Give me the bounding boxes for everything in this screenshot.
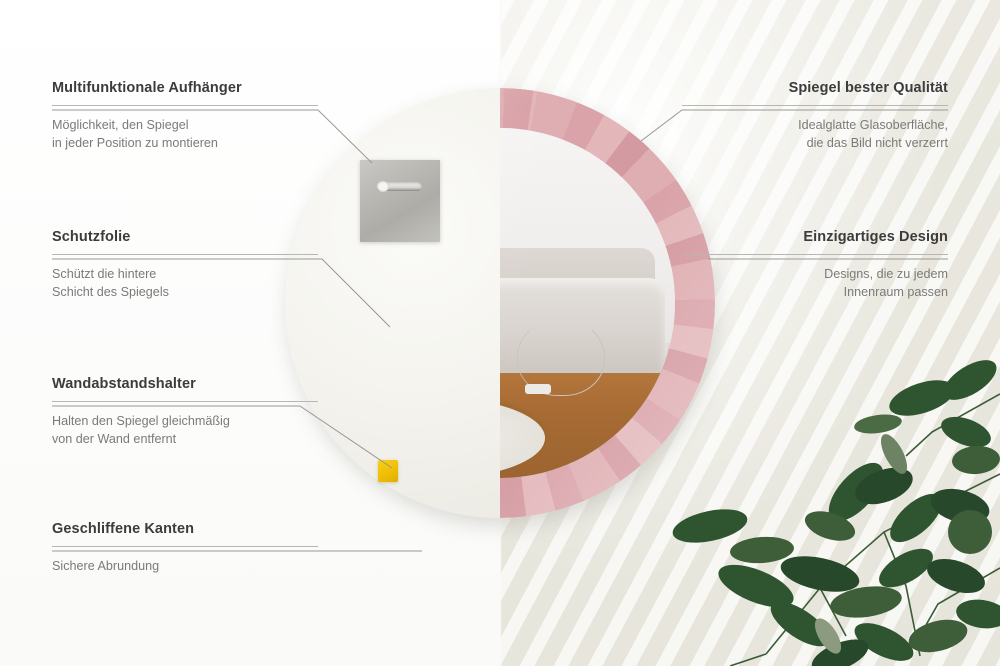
callout-title: Schutzfolie	[52, 229, 318, 245]
callout-description: Schützt die hintere Schicht des Spiegels	[52, 265, 318, 301]
mirror-back-surface	[285, 88, 500, 518]
mirror-product	[285, 88, 717, 580]
callout-description: Möglichkeit, den Spiegel in jeder Positi…	[52, 116, 318, 152]
callout-title: Multifunktionale Aufhänger	[52, 80, 318, 96]
callout-rule	[52, 401, 318, 402]
callout-rule	[682, 254, 948, 255]
callout-title: Einzigartiges Design	[682, 229, 948, 245]
hanger-keyhole	[377, 181, 389, 192]
infographic-canvas: Multifunktionale Aufhänger Möglichkeit, …	[0, 0, 1000, 666]
callout-einzigartiges-design: Einzigartiges Design Designs, die zu jed…	[682, 229, 948, 301]
callout-rule	[682, 105, 948, 106]
wall-spacer	[378, 460, 398, 482]
callout-rule	[52, 105, 318, 106]
foliage-decoration	[670, 336, 1000, 666]
callout-wandabstandshalter: Wandabstandshalter Halten den Spiegel gl…	[52, 376, 318, 448]
callout-spiegel-bester-qualitaet: Spiegel bester Qualität Idealglatte Glas…	[682, 80, 948, 152]
hanger-plate	[360, 160, 440, 242]
callout-description: Halten den Spiegel gleichmäßig von der W…	[52, 412, 318, 448]
callout-title: Wandabstandshalter	[52, 376, 318, 392]
callout-schutzfolie: Schutzfolie Schützt die hintere Schicht …	[52, 229, 318, 301]
callout-description: Idealglatte Glasoberfläche, die das Bild…	[682, 116, 948, 152]
callout-title: Spiegel bester Qualität	[682, 80, 948, 96]
callout-description: Sichere Abrundung	[52, 557, 318, 575]
callout-rule	[52, 546, 318, 547]
callout-multifunktionale-aufhaenger: Multifunktionale Aufhänger Möglichkeit, …	[52, 80, 318, 152]
callout-rule	[52, 254, 318, 255]
callout-title: Geschliffene Kanten	[52, 521, 318, 537]
callout-geschliffene-kanten: Geschliffene Kanten Sichere Abrundung	[52, 521, 318, 575]
callout-description: Designs, die zu jedem Innenraum passen	[682, 265, 948, 301]
